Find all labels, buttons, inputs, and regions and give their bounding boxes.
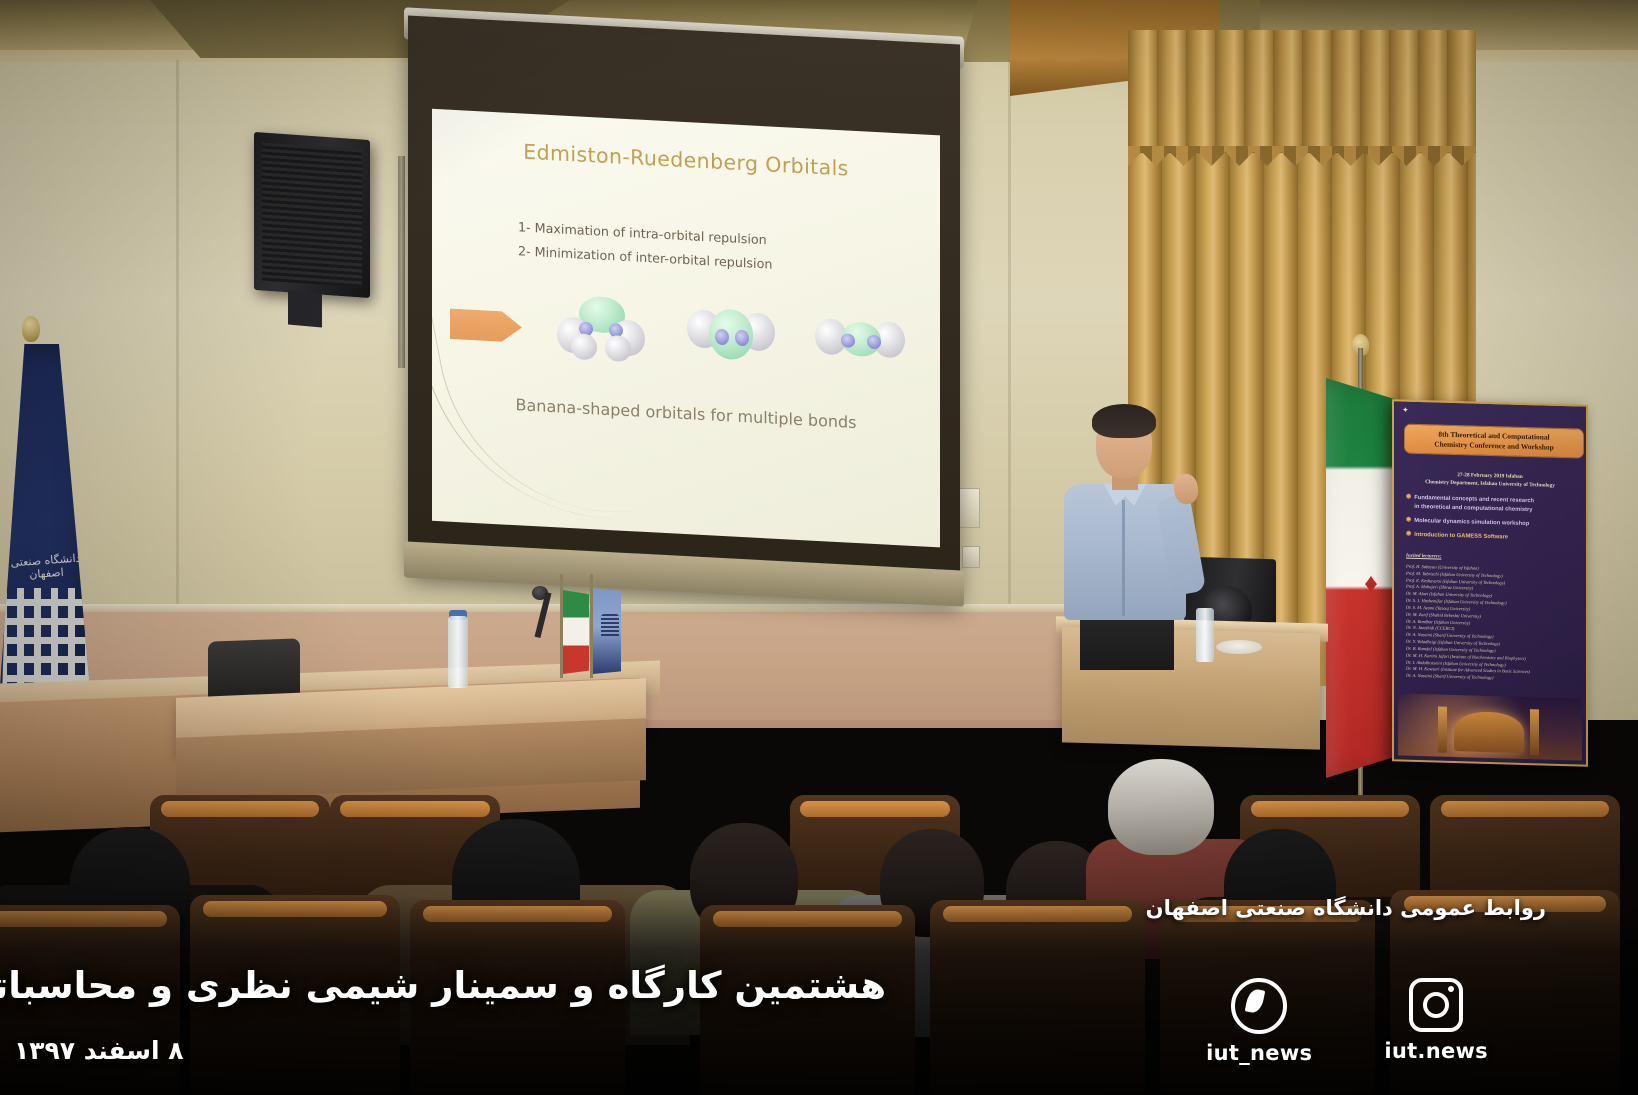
wall-seam xyxy=(1008,60,1011,620)
soroush-icon[interactable] xyxy=(1231,978,1287,1034)
social-instagram[interactable]: iut.news xyxy=(1384,978,1488,1065)
wall-seam xyxy=(176,60,179,620)
banner-bullet-text: Fundamental concepts and recent research… xyxy=(1414,494,1534,516)
iran-emblem-icon: ♦ xyxy=(1356,566,1386,600)
orbital-render-2 xyxy=(683,301,779,372)
flag-finial xyxy=(22,316,40,342)
instagram-icon[interactable] xyxy=(1409,978,1463,1032)
wall-outlet-plate xyxy=(958,488,980,528)
banner-bullet-list: ◉ Fundamental concepts and recent resear… xyxy=(1406,494,1578,550)
screen-side-pole xyxy=(398,156,405,368)
orbital-render-1 xyxy=(553,294,649,365)
banner-bullet: ◉ Molecular dynamics simulation workshop xyxy=(1406,517,1578,531)
banner-bullet: ◉ Introduction to GAMESS Software xyxy=(1406,531,1578,545)
seat xyxy=(930,900,1145,1095)
banner-bullet-text: Molecular dynamics simulation workshop xyxy=(1414,517,1529,529)
banner-bullet-text: Introduction to GAMESS Software xyxy=(1414,531,1508,543)
social-links: iut_news iut.news xyxy=(1206,978,1488,1065)
curtain-valance xyxy=(1128,30,1476,153)
speaker-bracket xyxy=(288,291,322,328)
banner-title: 8th Theoretical and Computational Chemis… xyxy=(1404,424,1584,459)
conference-photo: Edmiston-Ruedenberg Orbitals 1- Maximati… xyxy=(0,0,1638,1095)
banner-lecturers-heading: Invited lecturers: xyxy=(1406,554,1441,560)
social-handle: iut.news xyxy=(1384,1039,1488,1063)
bullet-dot-icon: ◉ xyxy=(1406,517,1411,526)
projection-screen: Edmiston-Ruedenberg Orbitals 1- Maximati… xyxy=(408,16,960,605)
banner-logo-icon: ✦ xyxy=(1402,406,1424,423)
social-soroush[interactable]: iut_news xyxy=(1206,978,1312,1065)
orbital-render-3 xyxy=(813,308,909,379)
pa-speaker-left xyxy=(254,132,370,298)
bullet-dot-icon: ◉ xyxy=(1406,494,1411,512)
banner-bullet: ◉ Fundamental concepts and recent resear… xyxy=(1406,494,1578,517)
banner-subtitle: 27-28 February 2019 Isfahan Chemistry De… xyxy=(1400,469,1580,490)
speaker-grill xyxy=(262,143,362,288)
presenter xyxy=(1046,404,1216,664)
presenter-hair xyxy=(1092,404,1156,438)
wall-switch xyxy=(962,546,980,568)
social-handle: iut_news xyxy=(1206,1041,1312,1065)
shirt-placket xyxy=(1122,500,1125,616)
event-title: هشتمین کارگاه و سمینار شیمی نظری و محاسب… xyxy=(0,964,886,1007)
event-date: ۸ اسفند ۱۳۹۷ xyxy=(14,1036,184,1065)
presentation-slide: Edmiston-Ruedenberg Orbitals 1- Maximati… xyxy=(432,109,940,548)
bullet-dot-icon: ◉ xyxy=(1406,531,1411,540)
flag-label: دانشگاه صنعتی اصفهان xyxy=(0,551,95,584)
organization-watermark: روابط عمومی دانشگاه صنعتی اصفهان xyxy=(1146,896,1546,920)
attendee-head xyxy=(1108,759,1214,855)
